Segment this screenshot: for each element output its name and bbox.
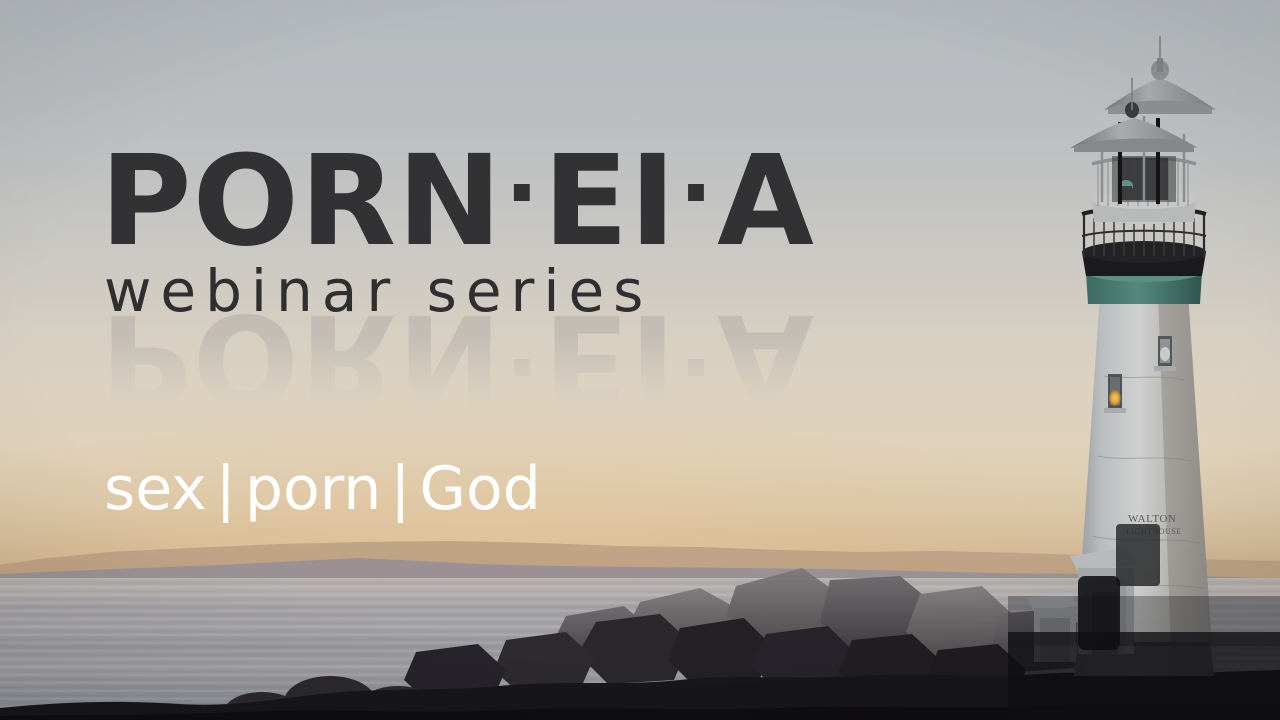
wordmark-part-1: PORN <box>100 129 503 274</box>
wordmark-separator-1: · <box>503 141 543 246</box>
lighthouse: WALTON LIGHTHOUSE <box>1008 36 1280 720</box>
tagline-item-porn: porn <box>245 454 381 524</box>
wordmark: PORN·EI·A <box>100 148 860 256</box>
brand-logo-block: PORN·EI·A webinar series <box>100 148 860 320</box>
tagline-divider-1: | <box>207 454 245 524</box>
wordmark-part-2: EI <box>543 129 677 274</box>
tagline-item-sex: sex <box>104 454 207 524</box>
slide-canvas: WALTON LIGHTHOUSE PORN·EI·A PORN·EI·A <box>0 0 1280 720</box>
tagline-divider-2: | <box>381 454 419 524</box>
lighthouse-inscription-line1: WALTON <box>1128 513 1176 525</box>
wordmark-part-3: A <box>717 129 815 274</box>
tagline: sex|porn|God <box>104 459 541 519</box>
tagline-item-god: God <box>420 454 541 524</box>
wordmark-separator-2: · <box>677 141 717 246</box>
